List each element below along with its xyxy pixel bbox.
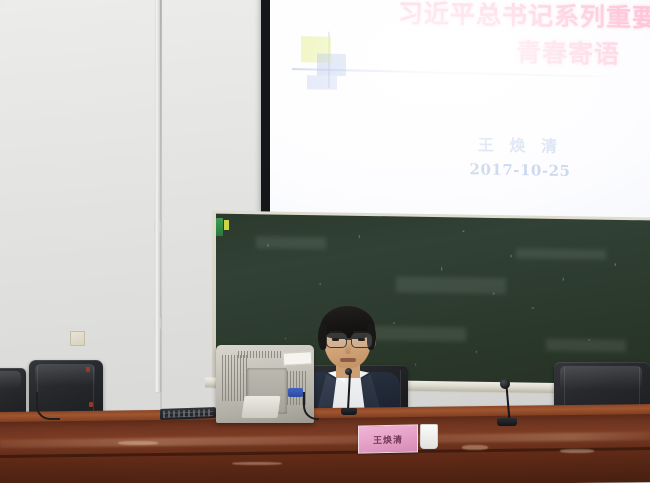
name-plate-text: 王焕清 bbox=[373, 432, 403, 446]
microphone-right-base bbox=[497, 418, 517, 426]
pipe-joint-upper bbox=[154, 222, 161, 233]
chair-cable bbox=[36, 392, 60, 420]
microphone-right-head bbox=[500, 379, 510, 389]
microphone-center-head bbox=[345, 368, 352, 375]
monitor-stand bbox=[241, 396, 280, 418]
chalkboard-clip-yellow bbox=[224, 220, 229, 230]
eye-left bbox=[332, 338, 339, 341]
photo-scene: 习近平总书记系列重要 青春寄语 王 焕 清 2017-10-25 bbox=[0, 0, 650, 483]
slide-date: 2017-10-25 bbox=[420, 159, 620, 181]
eyeglass-bridge bbox=[345, 338, 352, 340]
eyeglass-lens-right bbox=[351, 333, 372, 348]
slide-title-line-1: 习近平总书记系列重要 bbox=[328, 0, 650, 35]
eyeglass-lens-left bbox=[326, 333, 347, 348]
paper-cup bbox=[420, 424, 438, 449]
keyboard-keys bbox=[163, 409, 213, 418]
nose bbox=[345, 343, 351, 354]
slide-presenter-name: 王 焕 清 bbox=[420, 130, 620, 158]
vga-connector bbox=[288, 388, 303, 397]
wall-switch[interactable] bbox=[70, 331, 85, 346]
slide-title-line-2: 青春寄语 bbox=[328, 30, 620, 71]
wall-pipe bbox=[155, 0, 160, 392]
monitor-asset-label bbox=[283, 351, 313, 365]
chalkboard-clip-green bbox=[216, 218, 223, 236]
pipe-joint-lower bbox=[154, 318, 161, 329]
mouth bbox=[340, 358, 356, 362]
name-plate: 王焕清 bbox=[358, 424, 418, 453]
microphone-center-base bbox=[341, 408, 357, 415]
slide-accent-bar-blue bbox=[307, 75, 337, 90]
keyboard[interactable] bbox=[160, 407, 216, 420]
eye-right bbox=[358, 338, 365, 341]
wall-seam bbox=[160, 0, 162, 430]
